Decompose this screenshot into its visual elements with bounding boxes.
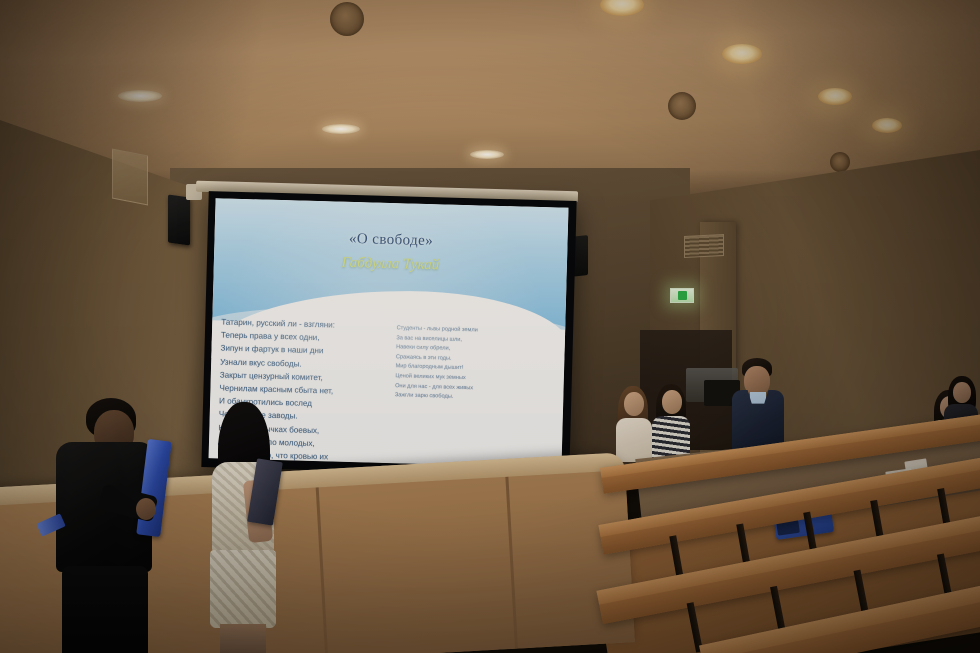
emergency-exit-sign <box>670 288 694 303</box>
wall-speaker-icon <box>168 194 190 245</box>
wall-panel <box>112 149 148 206</box>
hand <box>136 498 156 520</box>
slide-right-column: Студенты - львы родной земли За вас на в… <box>385 320 556 467</box>
person-woman-patterned-dress <box>190 402 300 653</box>
ceiling-downlight <box>600 0 644 16</box>
ceiling-speaker <box>330 2 364 36</box>
seated-student <box>650 384 692 456</box>
ceiling-lamp-strip <box>470 150 504 159</box>
legs <box>220 624 266 653</box>
dress-skirt <box>210 550 276 628</box>
person-man-black-shirt <box>48 398 168 653</box>
exit-glyph <box>678 291 687 300</box>
ventilation-grille-icon <box>684 234 724 258</box>
seated-student <box>614 386 654 456</box>
lecture-hall-photo: «О свободе» Габдулла Тукай Татарин, русс… <box>0 0 980 653</box>
trousers <box>62 566 148 653</box>
